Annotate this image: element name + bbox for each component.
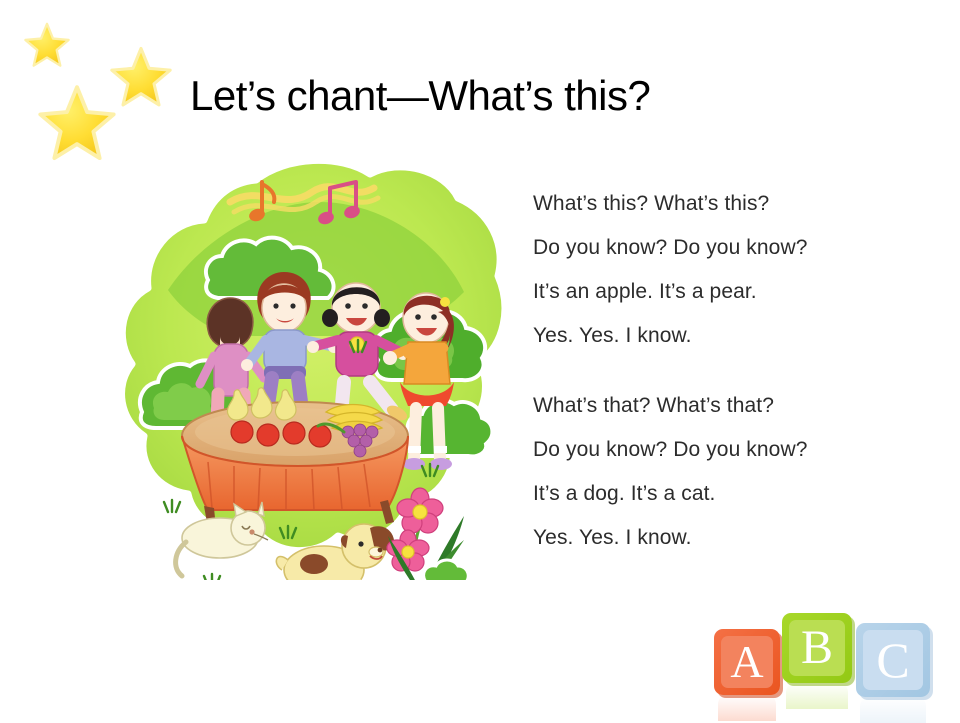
block-c-reflection xyxy=(860,697,926,723)
flower-pink-lower xyxy=(387,530,429,571)
chant-line: It’s an apple. It’s a pear. xyxy=(533,270,913,314)
fruit-pears xyxy=(227,388,296,420)
block-b: B xyxy=(782,613,852,683)
star-medium-icon xyxy=(110,46,172,108)
block-b-reflection xyxy=(786,683,848,709)
block-a-reflection xyxy=(718,695,776,721)
chant-illustration xyxy=(108,140,518,580)
chant-verse-2: What’s that? What’s that? Do you know? D… xyxy=(533,384,913,560)
chant-line: Do you know? Do you know? xyxy=(533,428,913,472)
chant-line: Do you know? Do you know? xyxy=(533,226,913,270)
block-c-letter: C xyxy=(863,630,923,690)
star-small-icon xyxy=(24,22,70,68)
star-large-icon xyxy=(38,84,116,162)
chant-line: It’s a dog. It’s a cat. xyxy=(533,472,913,516)
chant-verse-1: What’s this? What’s this? Do you know? D… xyxy=(533,182,913,358)
block-a: A xyxy=(714,629,780,695)
chant-line: What’s that? What’s that? xyxy=(533,384,913,428)
block-c: C xyxy=(856,623,930,697)
chant-line: Yes. Yes. I know. xyxy=(533,314,913,358)
bush-small-bottom-right xyxy=(424,560,469,580)
page-title: Let’s chant—What’s this? xyxy=(190,72,650,120)
block-a-letter: A xyxy=(721,636,773,688)
slide-canvas: Let’s chant—What’s this? xyxy=(0,0,960,720)
chant-line: Yes. Yes. I know. xyxy=(533,516,913,560)
chant-text: What’s this? What’s this? Do you know? D… xyxy=(533,182,913,560)
chant-line: What’s this? What’s this? xyxy=(533,182,913,226)
abc-blocks: A B C xyxy=(700,605,950,710)
block-b-letter: B xyxy=(789,620,845,676)
